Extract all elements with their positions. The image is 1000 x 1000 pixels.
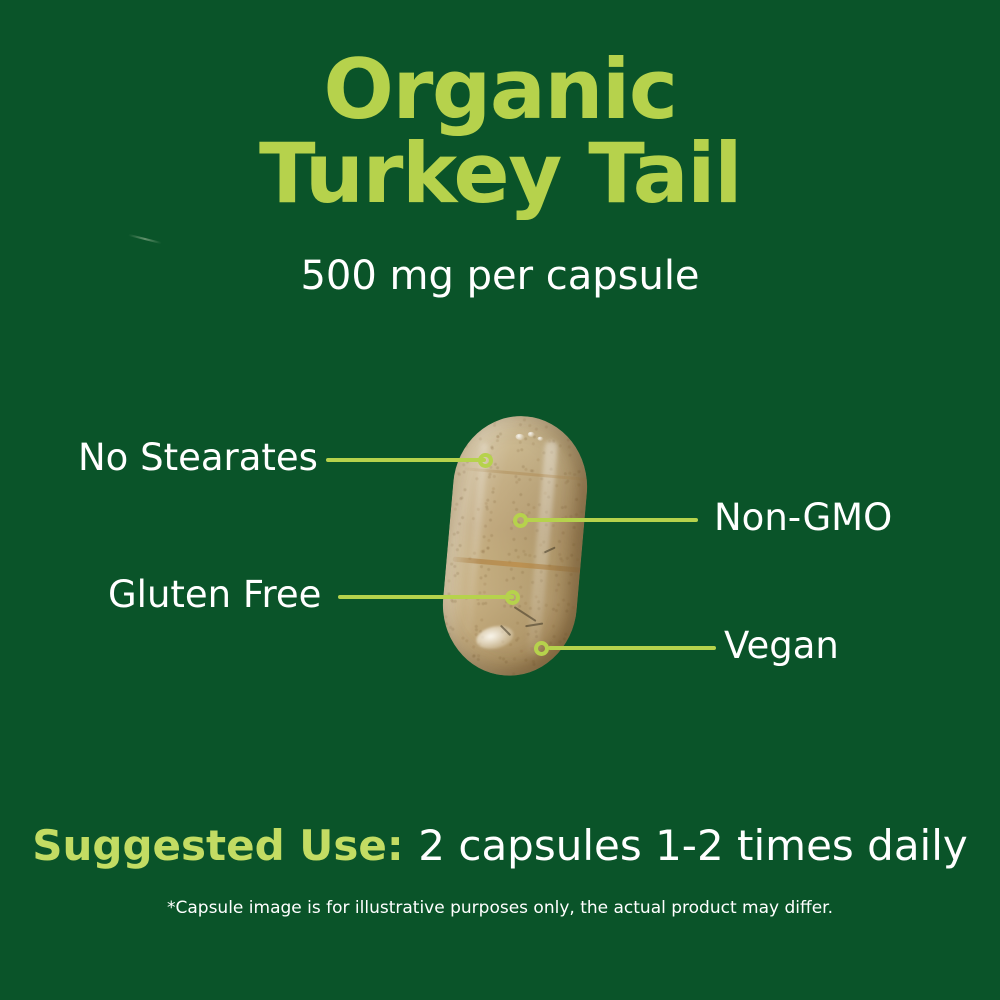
capsule-body: [437, 411, 593, 682]
disclaimer-text: *Capsule image is for illustrative purpo…: [0, 896, 1000, 920]
product-title: Organic Turkey Tail: [0, 48, 1000, 216]
callout-label-non-gmo: Non-GMO: [714, 496, 892, 540]
product-title-line-1: Organic: [0, 48, 1000, 132]
suggested-use: Suggested Use: 2 capsules 1-2 times dail…: [0, 820, 1000, 872]
callout-label-gluten-free: Gluten Free: [108, 573, 321, 617]
capsule-photo: [429, 406, 604, 686]
product-title-line-2: Turkey Tail: [0, 132, 1000, 216]
suggested-use-label: Suggested Use:: [32, 821, 418, 870]
suggested-use-value: 2 capsules 1-2 times daily: [418, 821, 967, 870]
capsule-edge-shading: [437, 411, 593, 682]
callout-label-no-stearates: No Stearates: [78, 436, 318, 480]
background-streak-artifact: [128, 234, 161, 244]
callout-label-vegan: Vegan: [724, 624, 839, 668]
product-infographic: Organic Turkey Tail 500 mg per capsule: [0, 0, 1000, 1000]
product-subtitle: 500 mg per capsule: [0, 252, 1000, 300]
